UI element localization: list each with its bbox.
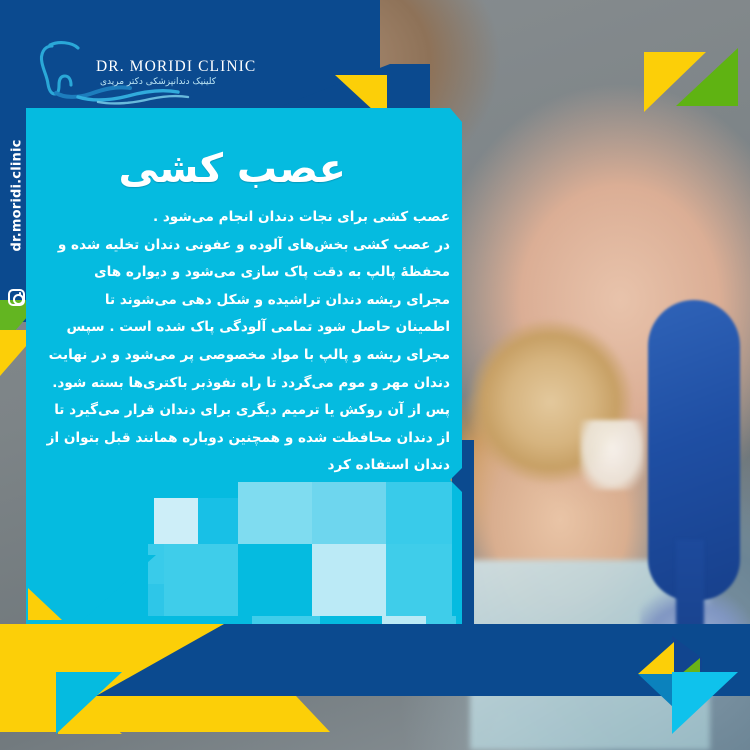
instagram-icon [8,289,25,306]
checker-square [148,584,164,616]
checker-square [238,482,312,544]
checker-square [148,544,164,584]
checker-square [198,498,238,544]
checker-square [164,544,238,616]
body-paragraph-1: عصب کشی برای نجات دندان انجام می‌شود . [46,204,450,232]
logo-title-en: DR. MORIDI CLINIC [96,58,256,76]
smile-highlight-region [580,420,644,490]
checker-square [238,544,312,616]
wave-swoosh-icon [56,87,130,97]
checker-square [312,482,386,544]
instagram-handle[interactable]: dr.moridi.clinic [0,132,35,308]
logo-title-fa: کلینیک دندانپزشکی دکتر مریدی [100,77,216,87]
body-text: عصب کشی برای نجات دندان انجام می‌شود . د… [46,204,450,480]
checker-square [312,544,386,616]
poster-canvas: DR. MORIDI CLINIC کلینیک دندانپزشکی دکتر… [0,0,750,750]
checker-square [386,482,452,544]
instagram-handle-label: dr.moridi.clinic [10,139,25,251]
page-title-text: عصب کشی [119,146,346,192]
checker-square [386,544,452,616]
checker-square [154,498,198,544]
body-paragraph-2: در عصب کشی بخش‌های آلوده و عفونی دندان ت… [46,232,450,480]
clinic-logo[interactable]: DR. MORIDI CLINIC کلینیک دندانپزشکی دکتر… [38,36,228,106]
